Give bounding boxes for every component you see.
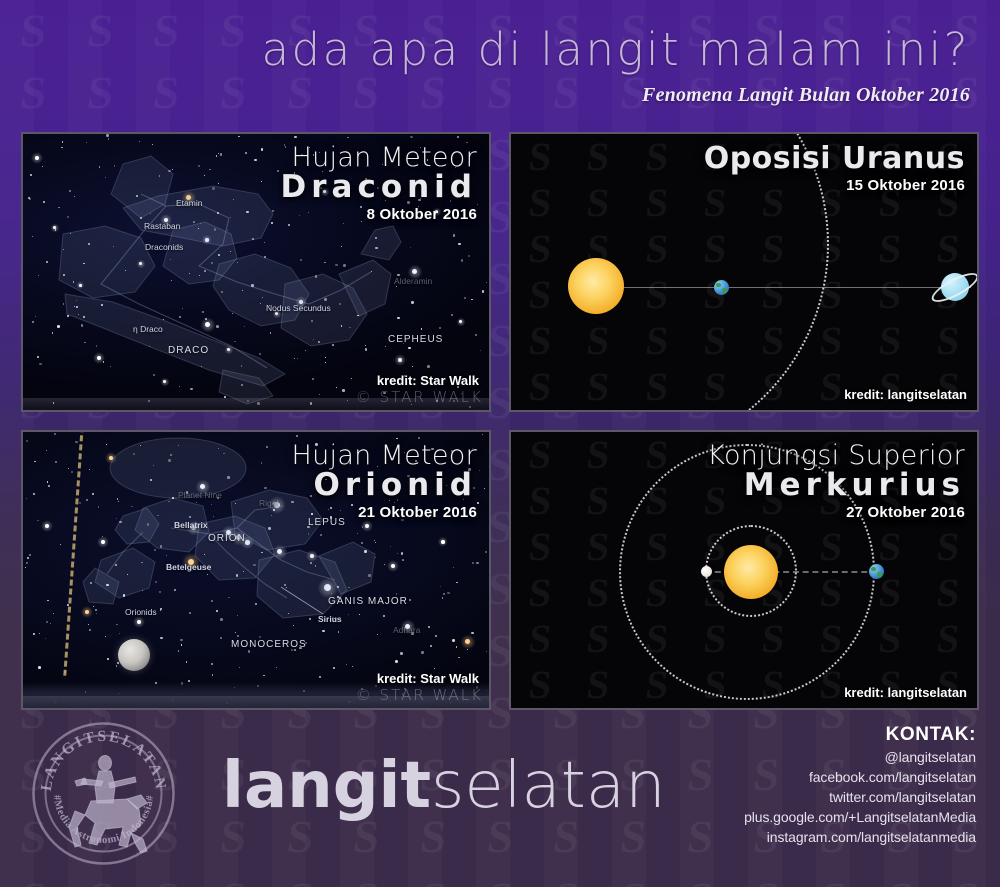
label-adhara: Adhara [393, 625, 420, 635]
panel-title-line2: Draconid [281, 170, 478, 204]
label-rigel: Rigel [259, 498, 278, 508]
brand-bold: langit [222, 749, 431, 823]
brand-wordmark: langitselatan [222, 754, 666, 818]
panel-title-line1: Oposisi Uranus [704, 142, 965, 175]
panel-orionid[interactable]: Planet Nine Rigel Bellatrix ORION LEPUS … [21, 430, 491, 710]
panel-date: 15 Oktober 2016 [704, 177, 965, 195]
earth-landmass-b [877, 572, 882, 577]
poster: SSSSSSSSSSSSSSSSSSSSSSSSSSSSSSSSSSSSSSSS… [0, 0, 1000, 887]
panel-title-merkurius: Konjungsi Superior Merkurius 27 Oktober … [707, 442, 965, 522]
panel-oposisi-uranus[interactable]: SSSSSSSSSSSSSSSSSSSSSSSSSSSSSSSSSSSSSSSS… [509, 132, 979, 412]
panel-title-uranus: Oposisi Uranus 15 Oktober 2016 [704, 144, 965, 195]
contact-handle[interactable]: @langitselatan [744, 748, 976, 768]
panel-title-line2: Orionid [292, 468, 477, 502]
label-nodus-secundus: Nodus Secundus [266, 303, 331, 313]
panel-credit-draconid: kredit: Star Walk [377, 373, 479, 388]
contact-instagram[interactable]: instagram.com/langitselatanmedia [744, 828, 976, 848]
earth-body [869, 564, 884, 579]
contact-facebook[interactable]: facebook.com/langitselatan [744, 768, 976, 788]
sun-body [724, 545, 778, 599]
label-rastaban: Rastaban [144, 221, 180, 231]
contact-twitter[interactable]: twitter.com/langitselatan [744, 788, 976, 808]
brand-light: selatan [431, 749, 666, 823]
panel-date: 21 Oktober 2016 [292, 504, 477, 522]
opposition-sight-line [591, 287, 971, 288]
panel-date: 8 Oktober 2016 [281, 206, 478, 224]
label-betelgeuse: Betelgeuse [166, 562, 211, 572]
panel-credit-orionid: kredit: Star Walk [377, 671, 479, 686]
starwalk-watermark: © STAR WALK [356, 388, 483, 406]
label-cepheus: CEPHEUS [388, 334, 443, 345]
page-title: ada apa di langit malam ini? [0, 0, 970, 72]
footer: LANGITSELATAN #Media Astronomi Indonesia… [0, 712, 1000, 887]
earth-landmass-b [722, 288, 727, 293]
panel-date: 27 Oktober 2016 [707, 504, 965, 522]
panel-credit-merkurius: kredit: langitselatan [844, 685, 967, 700]
moon-body [118, 639, 150, 671]
label-planet-nine: Planet Nine [178, 490, 222, 500]
contact-block: KONTAK: @langitselatan facebook.com/lang… [744, 724, 976, 847]
earth-landmass-a [871, 567, 876, 571]
label-draco: DRACO [168, 345, 209, 356]
label-bellatrix: Bellatrix [174, 520, 208, 530]
starwalk-watermark: © STAR WALK [356, 686, 483, 704]
contact-googleplus[interactable]: plus.google.com/+LangitselatanMedia [744, 808, 976, 828]
sun-body [568, 258, 624, 314]
panel-title-orionid: Hujan Meteor Orionid 21 Oktober 2016 [292, 442, 477, 522]
label-orionids: Orionids [125, 607, 157, 617]
earth-body [714, 280, 729, 295]
panel-draconid[interactable]: Etamin Rastaban Draconids Nodus Secundus… [21, 132, 491, 412]
contact-heading: KONTAK: [744, 724, 976, 746]
panel-grid: Etamin Rastaban Draconids Nodus Secundus… [21, 132, 979, 712]
label-orion: ORION [208, 533, 246, 544]
panel-title-line2: Merkurius [707, 468, 965, 502]
earth-landmass-a [716, 283, 721, 287]
label-sirius: Sirius [318, 614, 342, 624]
langitselatan-logo: LANGITSELATAN #Media Astronomi Indonesia… [31, 721, 176, 866]
panel-title-draconid: Hujan Meteor Draconid 8 Oktober 2016 [281, 144, 478, 224]
label-etamin: Etamin [176, 198, 202, 208]
header: ada apa di langit malam ini? Fenomena La… [0, 0, 1000, 120]
label-alderamin: Alderamin [394, 276, 432, 286]
label-draconids: Draconids [145, 242, 183, 252]
panel-konjungsi-merkurius[interactable]: SSSSSSSSSSSSSSSSSSSSSSSSSSSSSSSSSSSSSSSS… [509, 430, 979, 710]
mercury-body [701, 566, 712, 577]
label-ganis-major: GANIS MAJOR [328, 596, 408, 607]
panel-credit-uranus: kredit: langitselatan [844, 387, 967, 402]
label-monoceros: MONOCEROS [231, 639, 307, 650]
page-subtitle: Fenomena Langit Bulan Oktober 2016 [0, 72, 970, 107]
label-eta-draco: η Draco [133, 324, 163, 334]
